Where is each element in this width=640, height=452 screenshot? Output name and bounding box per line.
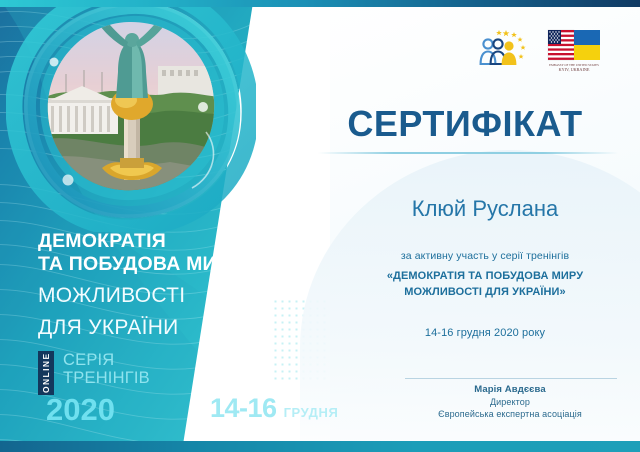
program-subtitle-line-1: МОЖЛИВОСТІ xyxy=(38,284,308,307)
us-embassy-kyiv-logo: EMBASSY OF THE UNITED STATES KYIV, UKRAI… xyxy=(544,28,604,74)
certificate-canvas: ДЕМОКРАТІЯ ТА ПОБУДОВА МИРУ МОЖЛИВОСТІ Д… xyxy=(0,0,640,452)
signatory-role: Директор xyxy=(395,397,625,407)
recipient-name: Клюй Руслана xyxy=(335,196,635,222)
certificate-title: СЕРТИФІКАТ xyxy=(300,103,630,145)
title-underline-rule xyxy=(318,152,618,154)
logo-row: EMBASSY OF THE UNITED STATES KYIV, UKRAI… xyxy=(478,28,604,74)
emblem-medallion xyxy=(6,0,256,232)
signature-block: Марія Авдєєва Директор Європейська експе… xyxy=(395,384,625,419)
certificate-body: за активну участь у серії тренінгів «ДЕМ… xyxy=(335,250,635,339)
program-date-block: 14-16 ГРУДНЯ xyxy=(210,393,338,424)
bottom-accent-bar xyxy=(0,441,640,452)
course-title-line-1: «ДЕМОКРАТІЯ ТА ПОБУДОВА МИРУ xyxy=(335,269,635,285)
top-accent-bar xyxy=(0,0,640,7)
series-text: СЕРІЯ ТРЕНІНГІВ xyxy=(63,351,150,388)
us-embassy-caption-line-2: KYIV, UKRAINE xyxy=(559,67,590,73)
event-date: 14-16 грудня 2020 року xyxy=(335,327,635,339)
bubble-accent-3 xyxy=(198,102,208,112)
program-title-line-1: ДЕМОКРАТІЯ xyxy=(38,230,308,253)
program-subtitle-line-2: ДЛЯ УКРАЇНИ xyxy=(38,316,308,339)
series-block: ONLINE СЕРІЯ ТРЕНІНГІВ xyxy=(38,351,150,395)
program-title-line-2: ТА ПОБУДОВА МИРУ xyxy=(38,253,308,276)
series-line-1: СЕРІЯ xyxy=(63,351,150,369)
online-badge: ONLINE xyxy=(38,351,54,395)
series-line-2: ТРЕНІНГІВ xyxy=(63,369,150,387)
bubble-accent-1 xyxy=(50,58,59,67)
signatory-organization: Європейська експертна асоціація xyxy=(395,409,625,419)
signatory-name: Марія Авдєєва xyxy=(395,384,625,395)
bubble-accent-2 xyxy=(63,175,74,186)
course-title: «ДЕМОКРАТІЯ ТА ПОБУДОВА МИРУ МОЖЛИВОСТІ … xyxy=(335,269,635,301)
signature-divider xyxy=(405,378,617,379)
european-expert-association-logo xyxy=(478,28,530,68)
program-date-days: 14-16 xyxy=(210,393,277,424)
course-title-line-2: МОЖЛИВОСТІ ДЛЯ УКРАЇНИ» xyxy=(335,285,635,301)
award-reason: за активну участь у серії тренінгів xyxy=(335,250,635,262)
program-year: 2020 xyxy=(46,392,115,428)
program-date-month: ГРУДНЯ xyxy=(284,405,339,420)
program-title-block: ДЕМОКРАТІЯ ТА ПОБУДОВА МИРУ МОЖЛИВОСТІ Д… xyxy=(38,230,308,339)
